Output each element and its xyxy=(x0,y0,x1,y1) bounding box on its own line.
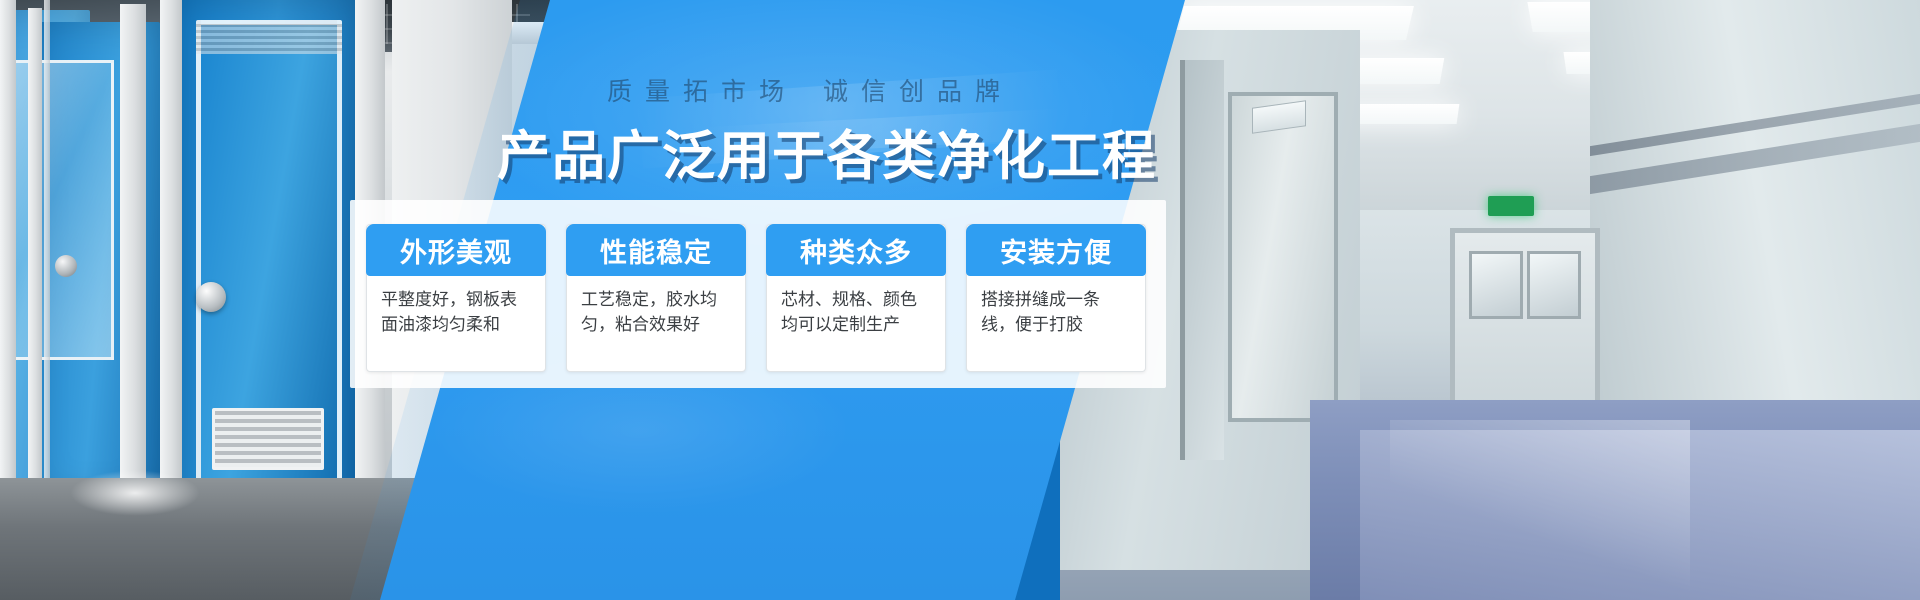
banner-tagline: 质量拓市场诚信创品牌 xyxy=(520,72,1100,108)
feature-card[interactable]: 外形美观 平整度好，钢板表面油漆均匀柔和 xyxy=(366,224,546,372)
feature-card-body: 搭接拼缝成一条线，便于打胶 xyxy=(967,276,1145,371)
feature-card[interactable]: 种类众多 芯材、规格、颜色均可以定制生产 xyxy=(766,224,946,372)
corridor-side-door xyxy=(1180,60,1224,460)
door-lock-icon xyxy=(55,255,77,277)
feature-card-body: 平整度好，钢板表面油漆均匀柔和 xyxy=(367,276,545,371)
feature-cards-row: 外形美观 平整度好，钢板表面油漆均匀柔和 性能稳定 工艺稳定，胶水均匀，粘合效果… xyxy=(366,224,1146,372)
feature-card[interactable]: 性能稳定 工艺稳定，胶水均匀，粘合效果好 xyxy=(566,224,746,372)
feature-card-title: 性能稳定 xyxy=(566,224,746,276)
floor-highlight xyxy=(70,470,200,516)
door-louver-vent xyxy=(212,408,324,470)
tagline-right-text: 诚信创品牌 xyxy=(823,78,1013,106)
corridor-door-panel xyxy=(1228,92,1338,422)
right-cleanroom-photo xyxy=(1060,0,1920,600)
feature-card-body: 芯材、规格、颜色均可以定制生产 xyxy=(767,276,945,371)
door-handle-icon xyxy=(196,282,226,312)
banner-headline: 产品广泛用于各类净化工程 xyxy=(497,114,1097,190)
exit-sign-icon xyxy=(1488,196,1534,216)
feature-card-title: 安装方便 xyxy=(966,224,1146,276)
promo-banner: 质量拓市场诚信创品牌 产品广泛用于各类净化工程 外形美观 平整度好，钢板表面油漆… xyxy=(0,0,1920,600)
feature-card[interactable]: 安装方便 搭接拼缝成一条线，便于打胶 xyxy=(966,224,1146,372)
tagline-left-text: 质量拓市场 xyxy=(607,78,797,106)
corridor-double-doors xyxy=(1450,228,1600,418)
floor-reflection xyxy=(1390,420,1690,600)
feature-card-title: 种类众多 xyxy=(766,224,946,276)
frame-post-2 xyxy=(28,8,42,528)
door-vent-top xyxy=(196,24,342,54)
feature-card-body: 工艺稳定，胶水均匀，粘合效果好 xyxy=(567,276,745,371)
feature-card-title: 外形美观 xyxy=(366,224,546,276)
cabin-glass-panel xyxy=(4,60,114,360)
frame-post-3 xyxy=(120,4,146,544)
